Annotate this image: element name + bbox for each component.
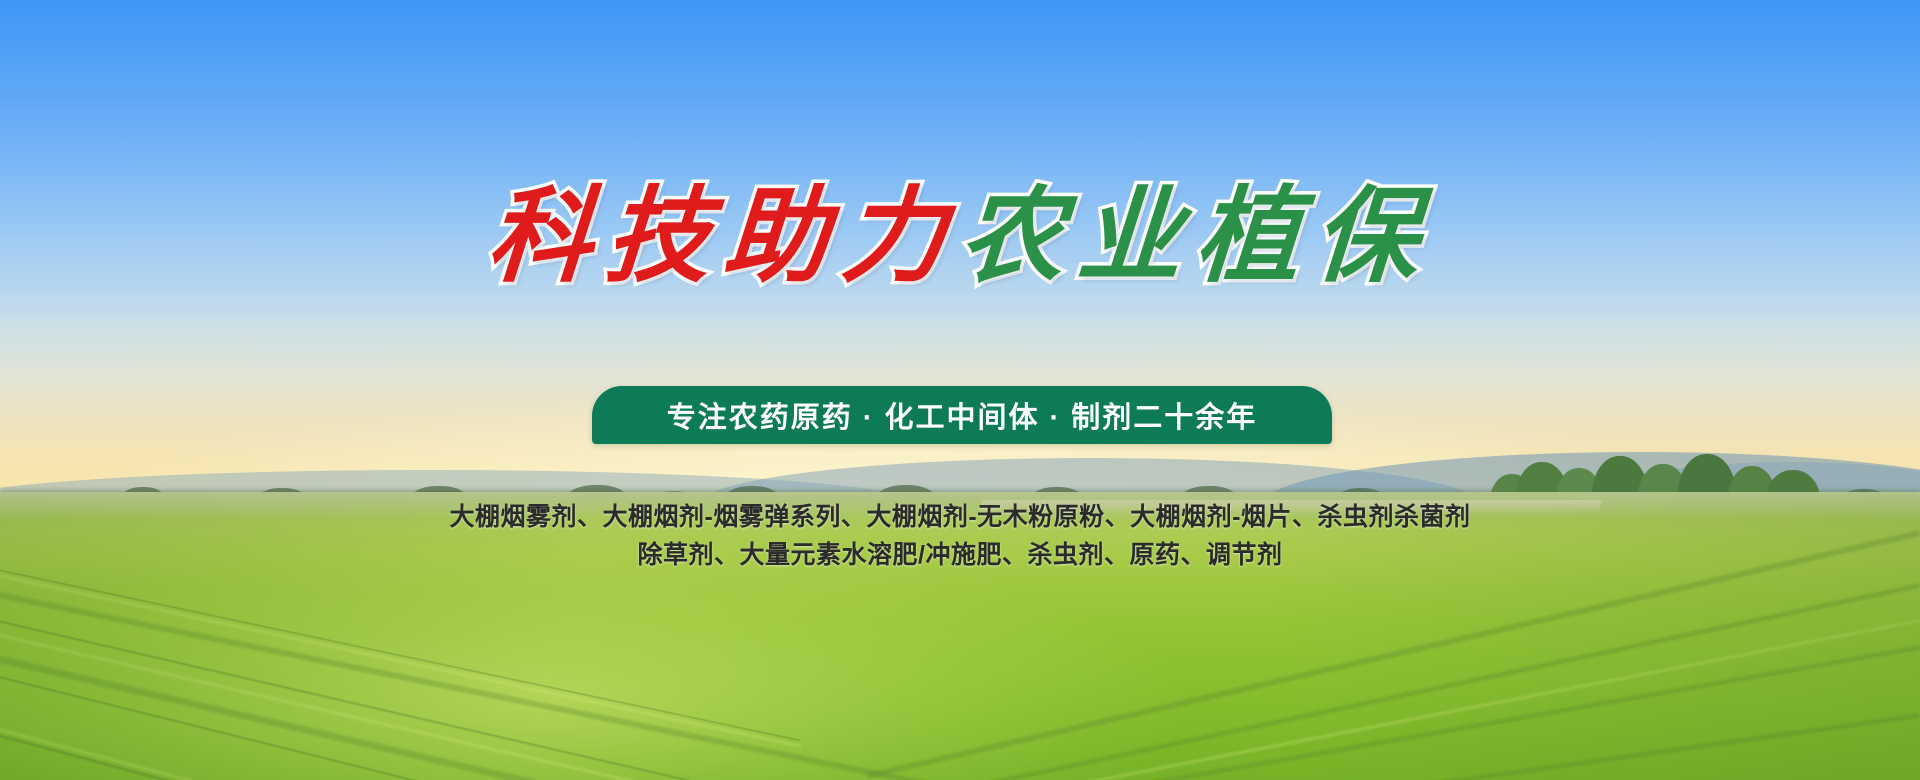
product-list: 大棚烟雾剂、大棚烟剂-烟雾弹系列、大棚烟剂-无木粉原粉、大棚烟剂-烟片、杀虫剂杀… [0, 498, 1920, 574]
product-line-2: 除草剂、大量元素水溶肥/冲施肥、杀虫剂、原药、调节剂 [0, 536, 1920, 574]
tagline-text: 专注农药原药 · 化工中间体 · 制剂二十余年 [592, 386, 1332, 444]
hero-banner: 科技助力农业植保 专注农药原药 · 化工中间体 · 制剂二十余年 大棚烟雾剂、大… [0, 0, 1920, 780]
tagline-banner: 专注农药原药 · 化工中间体 · 制剂二十余年 [592, 386, 1332, 444]
product-line-1: 大棚烟雾剂、大棚烟剂-烟雾弹系列、大棚烟剂-无木粉原粉、大棚烟剂-烟片、杀虫剂杀… [0, 498, 1920, 536]
